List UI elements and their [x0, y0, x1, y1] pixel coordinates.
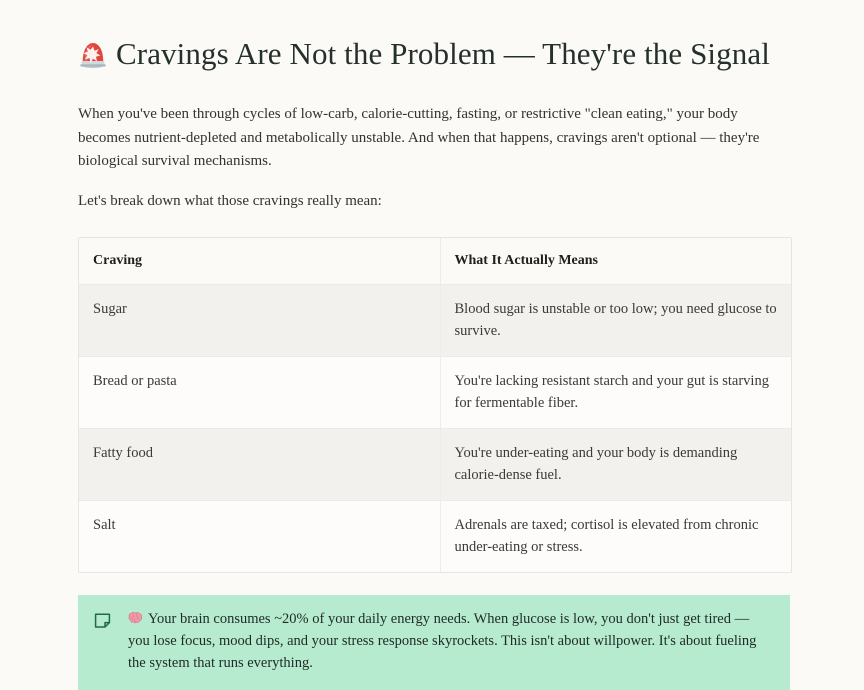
cell-meaning: Blood sugar is unstable or too low; you …	[440, 285, 791, 357]
callout-body: Your brain consumes ~20% of your daily e…	[128, 608, 774, 674]
callout-text: Your brain consumes ~20% of your daily e…	[128, 611, 756, 671]
intro-paragraph: When you've been through cycles of low-c…	[78, 74, 790, 174]
page-title: Cravings Are Not the Problem — They're t…	[78, 0, 790, 74]
cell-craving: Salt	[79, 501, 440, 573]
column-header-craving: Craving	[79, 238, 440, 285]
cell-meaning: You're under-eating and your body is dem…	[440, 429, 791, 501]
document-content: Cravings Are Not the Problem — They're t…	[78, 0, 790, 690]
brain-icon	[128, 611, 143, 625]
cravings-table-container: Craving What It Actually Means Sugar Blo…	[78, 237, 792, 573]
sticky-note-icon	[94, 612, 111, 629]
cell-meaning: You're lacking resistant starch and your…	[440, 357, 791, 429]
rotating-light-icon	[78, 38, 108, 69]
table-row: Sugar Blood sugar is unstable or too low…	[79, 285, 791, 357]
table-row: Bread or pasta You're lacking resistant …	[79, 357, 791, 429]
cell-meaning: Adrenals are taxed; cortisol is elevated…	[440, 501, 791, 573]
page-title-text: Cravings Are Not the Problem — They're t…	[116, 36, 770, 71]
table-header-row: Craving What It Actually Means	[79, 238, 791, 285]
column-header-meaning: What It Actually Means	[440, 238, 791, 285]
info-callout: Your brain consumes ~20% of your daily e…	[78, 595, 790, 690]
table-row: Fatty food You're under-eating and your …	[79, 429, 791, 501]
cell-craving: Bread or pasta	[79, 357, 440, 429]
document-page: Cravings Are Not the Problem — They're t…	[0, 0, 864, 630]
cell-craving: Fatty food	[79, 429, 440, 501]
table-row: Salt Adrenals are taxed; cortisol is ele…	[79, 501, 791, 573]
cell-craving: Sugar	[79, 285, 440, 357]
cravings-table: Craving What It Actually Means Sugar Blo…	[79, 238, 791, 572]
lead-in-paragraph: Let's break down what those cravings rea…	[78, 174, 790, 214]
